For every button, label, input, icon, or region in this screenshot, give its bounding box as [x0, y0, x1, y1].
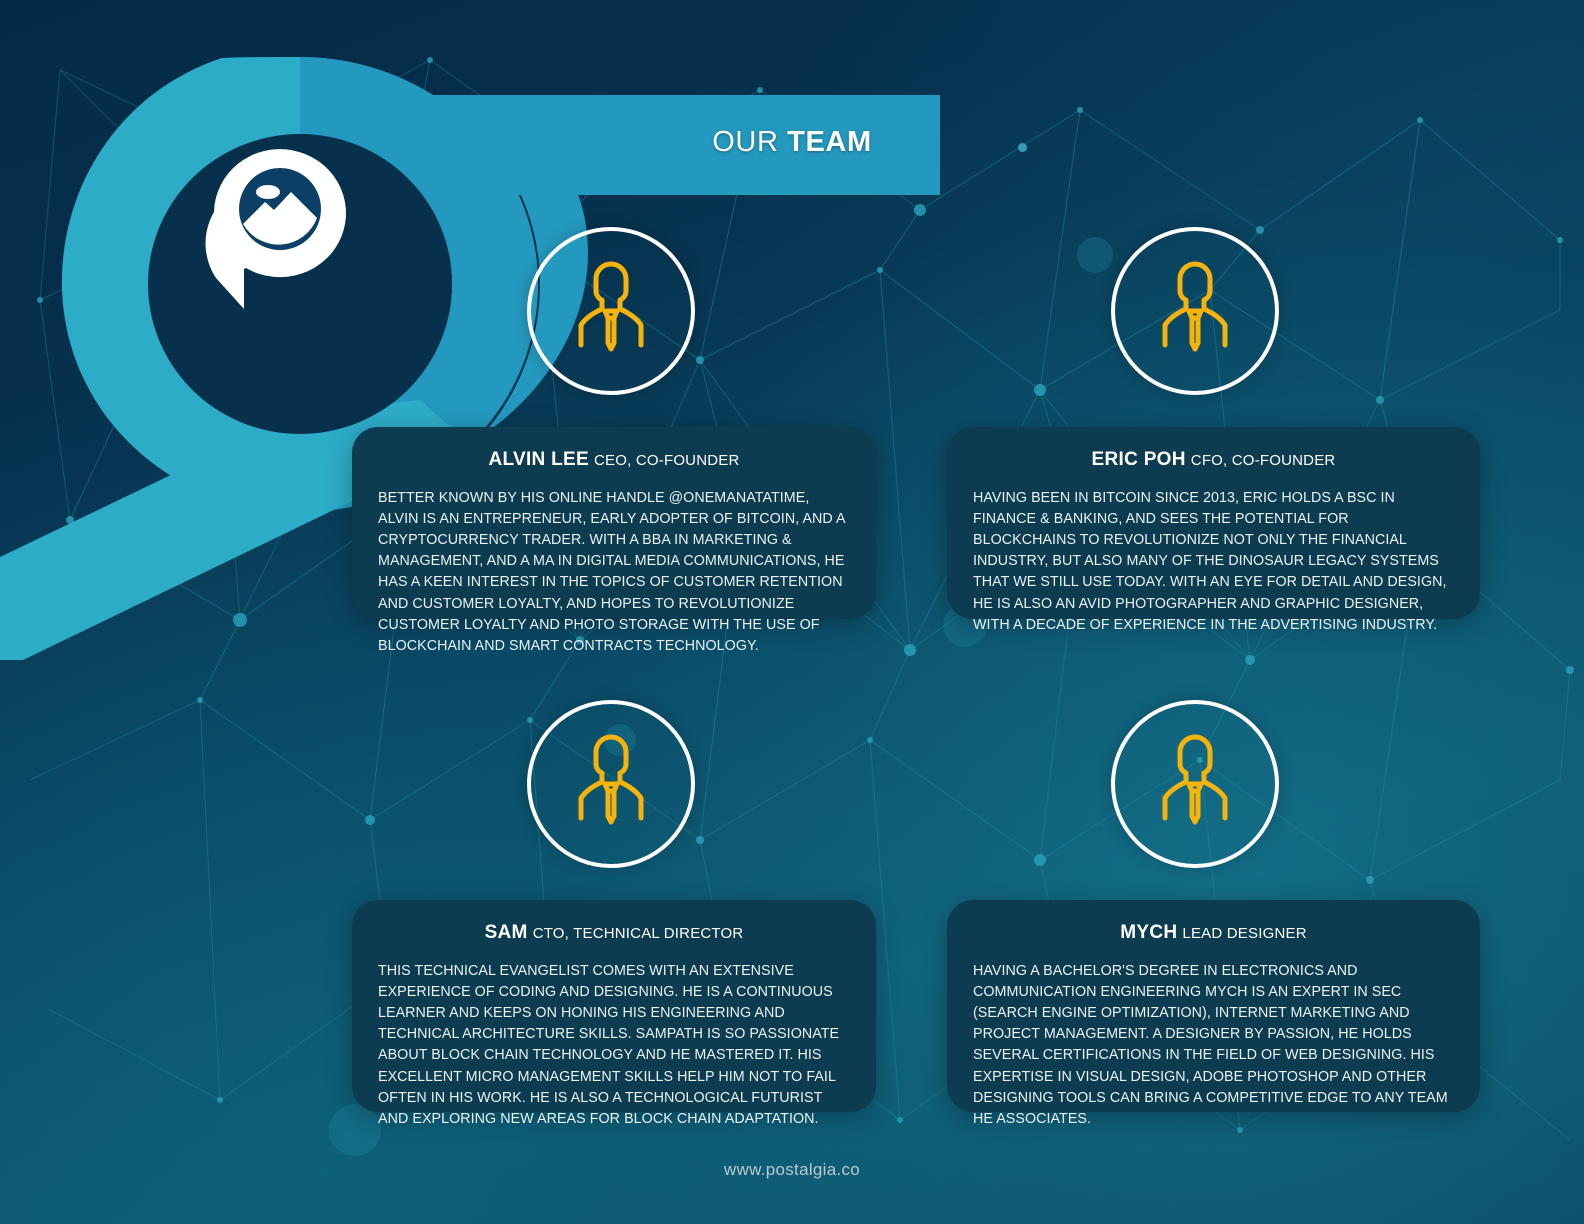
avatar	[527, 700, 695, 868]
member-role: CTO, TECHNICAL DIRECTOR	[533, 925, 744, 942]
member-bio: HAVING A BACHELOR'S DEGREE IN ELECTRONIC…	[973, 961, 1454, 1130]
member-name: MYCH	[1120, 922, 1177, 943]
member-name: SAM	[485, 922, 528, 943]
member-heading: SAMCTO, TECHNICAL DIRECTOR	[378, 922, 850, 945]
page-title: OUR TEAM	[0, 126, 1584, 159]
member-role: LEAD DESIGNER	[1182, 925, 1306, 942]
businessman-avatar-icon	[563, 255, 659, 367]
businessman-avatar-icon	[1147, 255, 1243, 367]
member-name: ALVIN LEE	[488, 449, 589, 470]
member-bio: THIS TECHNICAL EVANGELIST COMES WITH AN …	[378, 961, 850, 1130]
page-title-light: OUR	[712, 126, 778, 158]
businessman-avatar-icon	[563, 728, 659, 840]
member-bio: HAVING BEEN IN BITCOIN SINCE 2013, ERIC …	[973, 488, 1454, 636]
member-name: ERIC POH	[1092, 449, 1186, 470]
title-accent-dot	[1018, 143, 1027, 152]
avatar	[527, 227, 695, 395]
member-card: ERIC POHCFO, CO-FOUNDER HAVING BEEN IN B…	[947, 427, 1480, 619]
member-card: ALVIN LEECEO, CO-FOUNDER BETTER KNOWN BY…	[352, 427, 876, 619]
member-card: MYCHLEAD DESIGNER HAVING A BACHELOR'S DE…	[947, 900, 1480, 1112]
member-role: CFO, CO-FOUNDER	[1191, 452, 1336, 469]
member-role: CEO, CO-FOUNDER	[594, 452, 740, 469]
member-heading: ALVIN LEECEO, CO-FOUNDER	[378, 449, 850, 472]
businessman-avatar-icon	[1147, 728, 1243, 840]
member-heading: ERIC POHCFO, CO-FOUNDER	[973, 449, 1454, 472]
avatar	[1111, 227, 1279, 395]
member-card: SAMCTO, TECHNICAL DIRECTOR THIS TECHNICA…	[352, 900, 876, 1112]
footer-website-url[interactable]: www.postalgia.co	[0, 1160, 1584, 1180]
page-title-bold: TEAM	[787, 126, 872, 158]
member-bio: BETTER KNOWN BY HIS ONLINE HANDLE @ONEMA…	[378, 488, 850, 657]
avatar	[1111, 700, 1279, 868]
member-heading: MYCHLEAD DESIGNER	[973, 922, 1454, 945]
